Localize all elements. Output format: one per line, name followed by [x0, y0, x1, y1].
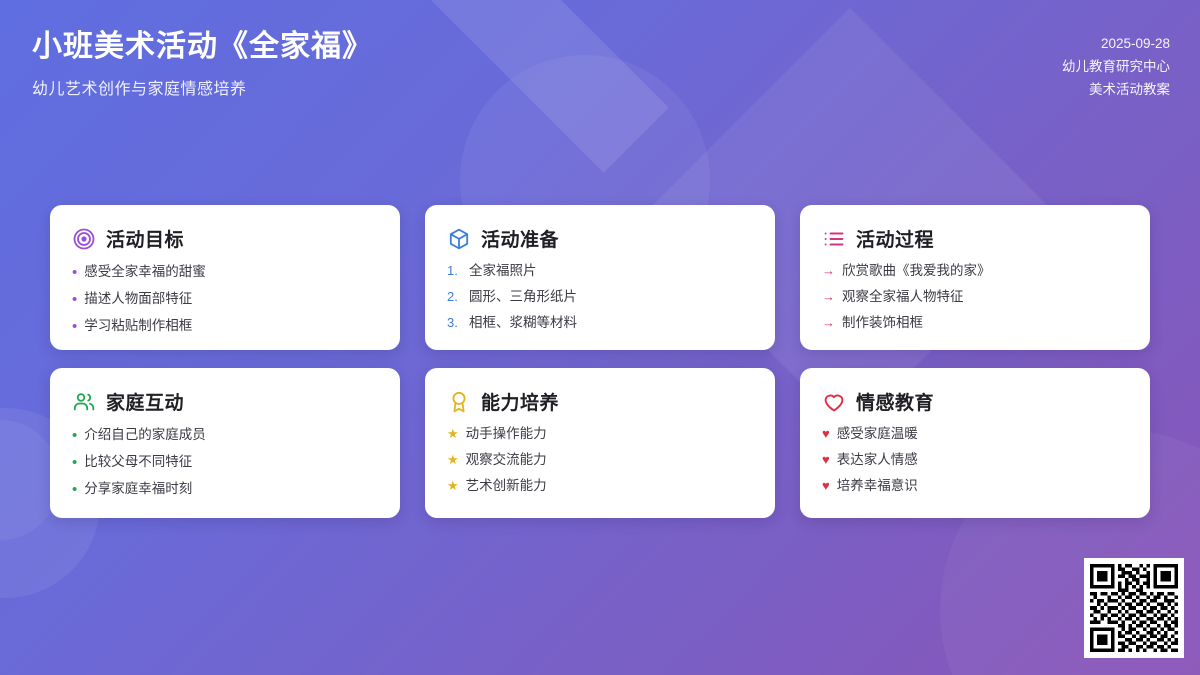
- qr-code-image: [1090, 564, 1178, 652]
- list-item: ★ 艺术创新能力: [447, 479, 753, 494]
- card-grid: 活动目标 • 感受全家幸福的甜蜜 • 描述人物面部特征 • 学习粘贴制作相框: [50, 205, 1150, 518]
- card-list: ★ 动手操作能力 ★ 观察交流能力 ★ 艺术创新能力: [447, 427, 753, 494]
- list-item-text: 比较父母不同特征: [84, 455, 192, 470]
- star-icon: ★: [447, 453, 459, 466]
- arrow-icon: →: [822, 264, 835, 277]
- card-family-interaction[interactable]: 家庭互动 • 介绍自己的家庭成员 • 比较父母不同特征 • 分享家庭幸福时刻: [50, 368, 400, 518]
- card-header: 家庭互动: [72, 388, 378, 415]
- card-title: 活动准备: [481, 225, 559, 252]
- header-organization: 幼儿教育研究中心: [1062, 55, 1170, 78]
- card-header: 情感教育: [822, 388, 1128, 415]
- qr-code[interactable]: [1084, 558, 1184, 658]
- card-list: 1. 全家福照片 2. 圆形、三角形纸片 3. 相框、浆糊等材料: [447, 264, 753, 331]
- list-item: 1. 全家福照片: [447, 264, 753, 279]
- card-title: 活动目标: [106, 225, 184, 252]
- list-item: • 分享家庭幸福时刻: [72, 481, 378, 497]
- list-item-text: 介绍自己的家庭成员: [84, 428, 206, 443]
- slide-header: 小班美术活动《全家福》 幼儿艺术创作与家庭情感培养 2025-09-28 幼儿教…: [0, 0, 1200, 130]
- arrow-icon: →: [822, 290, 835, 303]
- list-item-text: 圆形、三角形纸片: [469, 290, 577, 305]
- heart-icon: [822, 390, 846, 414]
- heart-bullet-icon: ♥: [822, 453, 830, 466]
- list-number: 3.: [447, 316, 462, 329]
- list-item-text: 观察全家福人物特征: [842, 290, 964, 305]
- list-item: 2. 圆形、三角形纸片: [447, 290, 753, 305]
- list-item-text: 培养幸福意识: [837, 479, 918, 494]
- list-item: 3. 相框、浆糊等材料: [447, 316, 753, 331]
- list-item: → 欣赏歌曲《我爱我的家》: [822, 264, 1128, 279]
- card-header: 活动准备: [447, 225, 753, 252]
- cube-icon: [447, 227, 471, 251]
- list-item-text: 观察交流能力: [466, 453, 547, 468]
- card-title: 情感教育: [856, 388, 934, 415]
- card-title: 能力培养: [481, 388, 559, 415]
- list-item: ♥ 培养幸福意识: [822, 479, 1128, 494]
- list-item: • 感受全家幸福的甜蜜: [72, 264, 378, 280]
- bullet-dot-icon: •: [72, 428, 77, 443]
- list-item: ★ 观察交流能力: [447, 453, 753, 468]
- list-item: • 比较父母不同特征: [72, 454, 378, 470]
- card-header: 能力培养: [447, 388, 753, 415]
- target-icon: [72, 227, 96, 251]
- list-item-text: 感受家庭温暖: [837, 427, 918, 442]
- arrow-icon: →: [822, 316, 835, 329]
- card-ability-cultivation[interactable]: 能力培养 ★ 动手操作能力 ★ 观察交流能力 ★ 艺术创新能力: [425, 368, 775, 518]
- list-item: ♥ 感受家庭温暖: [822, 427, 1128, 442]
- list-item-text: 欣赏歌曲《我爱我的家》: [842, 264, 991, 279]
- card-header: 活动过程: [822, 225, 1128, 252]
- card-list: • 介绍自己的家庭成员 • 比较父母不同特征 • 分享家庭幸福时刻: [72, 427, 378, 497]
- list-item: ♥ 表达家人情感: [822, 453, 1128, 468]
- award-icon: [447, 390, 471, 414]
- card-header: 活动目标: [72, 225, 378, 252]
- list-item-text: 相框、浆糊等材料: [469, 316, 577, 331]
- list-item: • 介绍自己的家庭成员: [72, 427, 378, 443]
- star-icon: ★: [447, 427, 459, 440]
- list-item: → 制作装饰相框: [822, 316, 1128, 331]
- page-subtitle: 幼儿艺术创作与家庭情感培养: [32, 75, 373, 99]
- bullet-dot-icon: •: [72, 265, 77, 280]
- header-left-group: 小班美术活动《全家福》 幼儿艺术创作与家庭情感培养: [32, 28, 373, 99]
- list-number: 1.: [447, 264, 462, 277]
- list-item: ★ 动手操作能力: [447, 427, 753, 442]
- page-title: 小班美术活动《全家福》: [32, 28, 373, 66]
- list-item-text: 学习粘贴制作相框: [84, 319, 192, 334]
- heart-bullet-icon: ♥: [822, 427, 830, 440]
- list-item-text: 全家福照片: [469, 264, 537, 279]
- slide-root: 小班美术活动《全家福》 幼儿艺术创作与家庭情感培养 2025-09-28 幼儿教…: [0, 0, 1200, 675]
- heart-bullet-icon: ♥: [822, 479, 830, 492]
- list-item-text: 表达家人情感: [837, 453, 918, 468]
- bullet-dot-icon: •: [72, 482, 77, 497]
- card-activity-goals[interactable]: 活动目标 • 感受全家幸福的甜蜜 • 描述人物面部特征 • 学习粘贴制作相框: [50, 205, 400, 350]
- list-item-text: 感受全家幸福的甜蜜: [84, 265, 206, 280]
- card-list: ♥ 感受家庭温暖 ♥ 表达家人情感 ♥ 培养幸福意识: [822, 427, 1128, 494]
- users-icon: [72, 390, 96, 414]
- card-title: 家庭互动: [106, 388, 184, 415]
- list-item-text: 动手操作能力: [466, 427, 547, 442]
- card-list: → 欣赏歌曲《我爱我的家》 → 观察全家福人物特征 → 制作装饰相框: [822, 264, 1128, 331]
- header-doc-type: 美术活动教案: [1062, 78, 1170, 101]
- star-icon: ★: [447, 479, 459, 492]
- list-item: → 观察全家福人物特征: [822, 290, 1128, 305]
- card-emotional-education[interactable]: 情感教育 ♥ 感受家庭温暖 ♥ 表达家人情感 ♥ 培养幸福意识: [800, 368, 1150, 518]
- list-icon: [822, 227, 846, 251]
- list-item-text: 分享家庭幸福时刻: [84, 482, 192, 497]
- bullet-dot-icon: •: [72, 455, 77, 470]
- list-item: • 描述人物面部特征: [72, 291, 378, 307]
- header-meta-group: 2025-09-28 幼儿教育研究中心 美术活动教案: [1062, 32, 1170, 102]
- list-item-text: 描述人物面部特征: [84, 292, 192, 307]
- header-date: 2025-09-28: [1062, 32, 1170, 55]
- list-number: 2.: [447, 290, 462, 303]
- list-item: • 学习粘贴制作相框: [72, 318, 378, 334]
- card-activity-preparation[interactable]: 活动准备 1. 全家福照片 2. 圆形、三角形纸片 3. 相框、浆糊等材料: [425, 205, 775, 350]
- list-item-text: 艺术创新能力: [466, 479, 547, 494]
- card-activity-process[interactable]: 活动过程 → 欣赏歌曲《我爱我的家》 → 观察全家福人物特征 → 制作装饰相框: [800, 205, 1150, 350]
- bullet-dot-icon: •: [72, 292, 77, 307]
- card-title: 活动过程: [856, 225, 934, 252]
- bullet-dot-icon: •: [72, 319, 77, 334]
- card-list: • 感受全家幸福的甜蜜 • 描述人物面部特征 • 学习粘贴制作相框: [72, 264, 378, 334]
- list-item-text: 制作装饰相框: [842, 316, 923, 331]
